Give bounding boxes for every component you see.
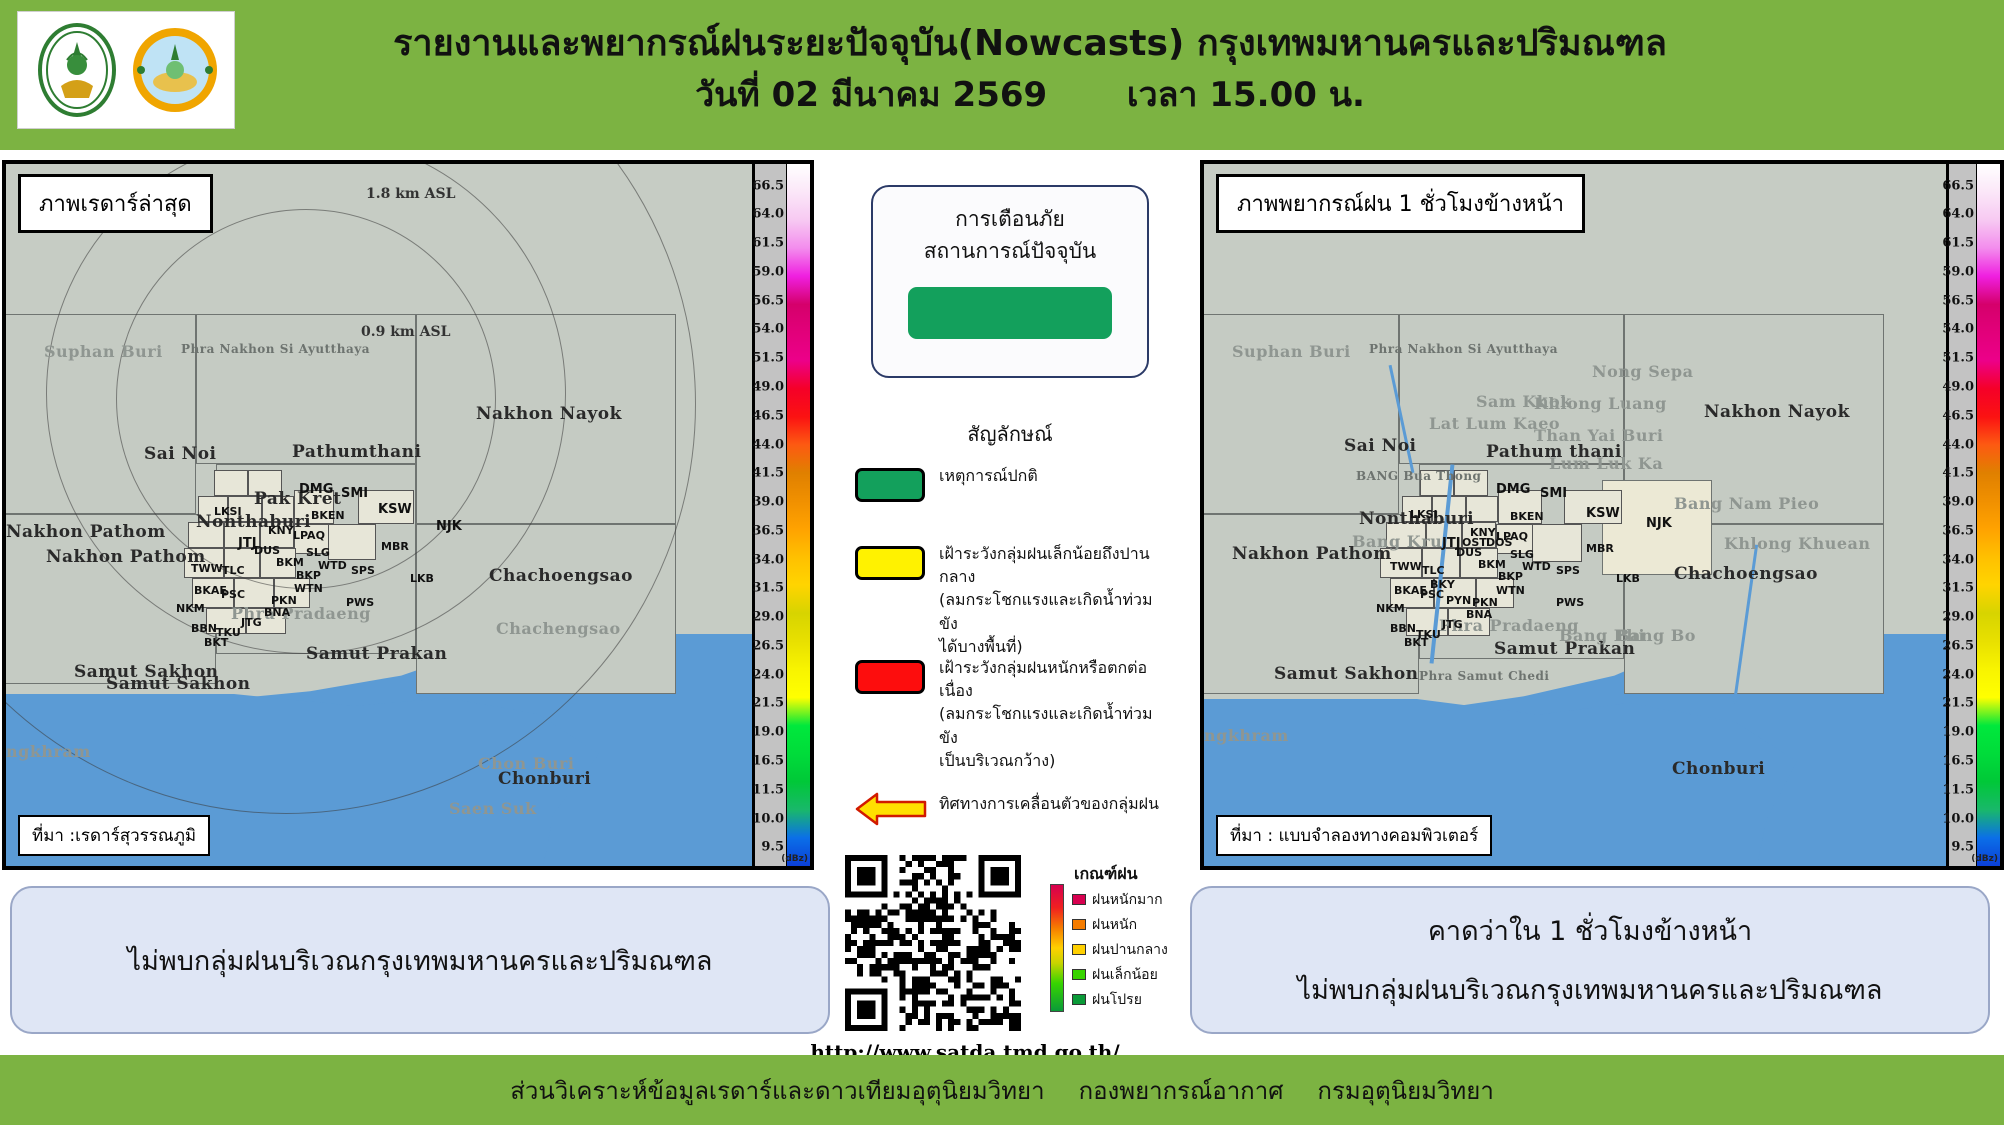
legend-label-watch-light: เฝ้าระวังกลุ่มฝนเล็กน้อยถึงปานกลาง(ลมกระ… [939, 542, 1169, 658]
district-code-label: LKSI [214, 505, 242, 518]
colorbar-tick: 21.5 [1942, 696, 1974, 711]
district-code-label: MBR [1586, 542, 1614, 555]
colorbar-tick: 39.0 [1942, 495, 1974, 510]
district-code-label: TLC [1422, 564, 1445, 577]
map-place-label: Khlong Luang [1534, 394, 1667, 413]
rain-criteria-legend: เกณฑ์ฝน ฝนหนักมากฝนหนักฝนปานกลางฝนเล็กน้… [1050, 862, 1200, 1012]
colorbar-tick: 66.5 [752, 178, 784, 193]
map-place-label: ngkhram [1204, 726, 1289, 745]
radar-colorbar: 66.564.061.559.056.554.051.549.046.544.0… [752, 164, 810, 866]
map-place-label: Phra Samut Chedi [1419, 669, 1549, 683]
district-code-label: NKM [176, 602, 205, 615]
map-place-label: Nakhon Pathom [1232, 544, 1392, 564]
district-code-label: NJK [1646, 516, 1672, 531]
district-code-label: WTD [318, 559, 347, 572]
district-code-label: PYN [1446, 594, 1471, 607]
district-code-label: SLG [306, 546, 330, 559]
colorbar-tick: 31.5 [1942, 581, 1974, 596]
rain-criteria-label: ฝนหนักมาก [1092, 889, 1163, 911]
radar-colorbar-ticks: 66.564.061.559.056.554.051.549.046.544.0… [755, 164, 786, 866]
colorbar-tick: 29.0 [1942, 610, 1974, 625]
district-code-label: PKN [1472, 596, 1498, 609]
map-place-label: Nakhon Pathom [46, 547, 206, 567]
colorbar-tick: 10.0 [1942, 811, 1974, 826]
district-code-label: KSW [1586, 506, 1620, 521]
colorbar-tick: 46.5 [752, 408, 784, 423]
qr-code[interactable] [845, 855, 1021, 1031]
district-code-label: LPAQ [293, 529, 325, 542]
district-code-label: TKU [216, 626, 241, 639]
map-place-label: Samut Sakhon [106, 674, 251, 694]
colorbar-tick: 26.5 [752, 638, 784, 653]
map-place-label: Phra Nakhon Si Ayutthaya [181, 342, 370, 356]
district-code-label: MBR [381, 540, 409, 553]
rain-intensity-gradient-bar [1050, 884, 1064, 1012]
district-code-label: TKU [1416, 628, 1441, 641]
rain-criteria-item: ฝนโปรย [1072, 987, 1200, 1012]
rain-criteria-swatch-icon [1072, 969, 1086, 980]
red-swatch-icon [855, 660, 925, 694]
title-line-2: วันที่ 02 มีนาคม 2569 เวลา 15.00 น. [250, 73, 1810, 119]
colorbar-tick: 51.5 [1942, 351, 1974, 366]
rain-criteria-swatch-icon [1072, 994, 1086, 1005]
district-code-label: DUS [254, 544, 280, 557]
map-place-label: Samut Sakhon [1274, 664, 1419, 684]
footer-department: กรมอุตุนิยมวิทยา [1317, 1071, 1493, 1110]
colorbar-tick: 26.5 [1942, 638, 1974, 653]
colorbar-tick: 66.5 [1942, 178, 1974, 193]
colorbar-tick: 51.5 [752, 351, 784, 366]
colorbar-tick: 16.5 [1942, 753, 1974, 768]
colorbar-tick: 64.0 [1942, 207, 1974, 222]
colorbar-tick: 11.5 [1942, 782, 1974, 797]
status-badge [908, 287, 1112, 339]
map-place-label: Phra Nakhon Si Ayutthaya [1369, 342, 1558, 356]
rain-criteria-item: ฝนหนักมาก [1072, 887, 1200, 912]
district-code-label: TLC [222, 564, 245, 577]
district-code-label: DMG [1496, 482, 1530, 497]
colorbar-tick: 19.0 [752, 725, 784, 740]
colorbar-tick: 61.5 [1942, 236, 1974, 251]
nowcast-page: รายงานและพยากรณ์ฝนระยะปัจจุบัน(Nowcasts)… [0, 0, 2004, 1125]
colorbar-tick: 9.5 [761, 840, 784, 855]
green-swatch-icon [855, 468, 925, 502]
forecast-summary-box: คาดว่าใน 1 ชั่วโมงข้างหน้า ไม่พบกลุ่มฝนบ… [1190, 886, 1990, 1034]
district-code-label: NJK [436, 519, 462, 534]
district-code-label: WTN [1496, 584, 1525, 597]
radar-panel[interactable]: 1.8 km ASL 0.9 km ASL Suphan BuriPhra Na… [2, 160, 814, 870]
colorbar-tick: 34.0 [752, 552, 784, 567]
district-code-label: LKSI [1410, 508, 1438, 521]
colorbar-tick: 41.5 [752, 466, 784, 481]
map-place-label: Chachengsao [496, 619, 621, 638]
map-place-label: Suphan Buri [1232, 342, 1351, 361]
map-place-label: Chonburi [498, 769, 591, 789]
radar-summary-box: ไม่พบกลุ่มฝนบริเวณกรุงเทพมหานครและปริมณฑ… [10, 886, 830, 1034]
district-code-label: BNA [1466, 608, 1492, 621]
district-code-label: WTD [1522, 560, 1551, 573]
district-code-label: JTG [241, 616, 262, 629]
forecast-colorbar-strip [1976, 164, 2000, 866]
district-code-label: SPS [1556, 564, 1580, 577]
map-place-label: Nakhon Nayok [476, 404, 622, 424]
rain-criteria-items: ฝนหนักมากฝนหนักฝนปานกลางฝนเล็กน้อยฝนโปรย [1050, 887, 1200, 1012]
rain-criteria-label: ฝนเล็กน้อย [1092, 964, 1158, 986]
district-code-label: WTN [294, 582, 323, 595]
district-code-label: LKB [410, 572, 434, 585]
map-place-label: ngkhram [6, 742, 91, 761]
colorbar-tick: 54.0 [1942, 322, 1974, 337]
colorbar-tick: 24.0 [752, 667, 784, 682]
map-place-label: Chachoengsao [1674, 564, 1818, 584]
rain-criteria-label: ฝนปานกลาง [1092, 939, 1168, 961]
district-code-label: KSW [378, 502, 412, 517]
radar-source-tag: ที่มา :เรดาร์สุวรรณภูมิ [18, 815, 210, 856]
legend-label-normal: เหตุการณ์ปกติ [939, 464, 1169, 487]
colorbar-tick: 36.5 [752, 523, 784, 538]
district-code-label: PSC [221, 588, 245, 601]
rain-criteria-title: เกณฑ์ฝน [1074, 862, 1200, 887]
district-code-label: TWW [1390, 560, 1422, 573]
map-place-label: Bang Nam Pieo [1674, 494, 1819, 513]
colorbar-tick: 36.5 [1942, 523, 1974, 538]
footer-division: ส่วนวิเคราะห์ข้อมูลเรดาร์และดาวเทียมอุตุ… [510, 1071, 1044, 1110]
colorbar-tick: 49.0 [752, 379, 784, 394]
forecast-colorbar-unit: (dBz) [1971, 854, 1998, 864]
colorbar-tick: 56.5 [752, 293, 784, 308]
arrow-left-icon [855, 790, 927, 828]
map-place-label: Bang Bo [1616, 626, 1696, 645]
district-code-label: BKEN [311, 509, 345, 522]
map-place-label: Nakhon Pathom [6, 522, 166, 542]
report-date: วันที่ 02 มีนาคม 2569 [695, 75, 1047, 115]
warning-card: การเตือนภัย สถานการณ์ปัจจุบัน [871, 185, 1149, 378]
forecast-map-canvas[interactable]: Suphan BuriPhra Nakhon Si AyutthayaNong … [1204, 164, 1946, 866]
colorbar-tick: 44.0 [1942, 437, 1974, 452]
page-title: รายงานและพยากรณ์ฝนระยะปัจจุบัน(Nowcasts)… [250, 20, 1810, 118]
rain-criteria-swatch-icon [1072, 894, 1086, 905]
rain-criteria-label: ฝนหนัก [1092, 914, 1137, 936]
colorbar-tick: 19.0 [1942, 725, 1974, 740]
legend-heading: สัญลักษณ์ [871, 418, 1149, 450]
map-place-label: BANG Bua Thong [1356, 469, 1481, 483]
ring-label-1: 1.8 km ASL [366, 186, 455, 202]
colorbar-tick: 21.5 [752, 696, 784, 711]
rain-criteria-swatch-icon [1072, 944, 1086, 955]
legend-label-watch-heavy: เฝ้าระวังกลุ่มฝนหนักหรือตกต่อเนื่อง(ลมกร… [939, 656, 1169, 772]
colorbar-tick: 31.5 [752, 581, 784, 596]
map-place-label: Chonburi [1672, 759, 1765, 779]
royal-irrigation-seal-icon [31, 20, 123, 120]
colorbar-tick: 34.0 [1942, 552, 1974, 567]
yellow-swatch-icon [855, 546, 925, 580]
colorbar-tick: 11.5 [752, 782, 784, 797]
map-place-label: Saen Suk [449, 799, 537, 818]
colorbar-tick: 49.0 [1942, 379, 1974, 394]
rain-criteria-swatch-icon [1072, 919, 1086, 930]
colorbar-tick: 10.0 [752, 811, 784, 826]
colorbar-tick: 59.0 [752, 264, 784, 279]
radar-colorbar-unit: (dBz) [781, 854, 808, 864]
colorbar-tick: 24.0 [1942, 667, 1974, 682]
rain-criteria-item: ฝนหนัก [1072, 912, 1200, 937]
forecast-colorbar-ticks: 66.564.061.559.056.554.051.549.046.544.0… [1949, 164, 1976, 866]
agency-logos [17, 11, 235, 129]
district-code-label: OST [1462, 536, 1487, 549]
page-header: รายงานและพยากรณ์ฝนระยะปัจจุบัน(Nowcasts)… [0, 0, 2004, 150]
rain-criteria-label: ฝนโปรย [1092, 989, 1142, 1011]
district-code-label: PKN [271, 594, 297, 607]
page-footer: ส่วนวิเคราะห์ข้อมูลเรดาร์และดาวเทียมอุตุ… [0, 1055, 2004, 1125]
district-code-label: SMI [341, 486, 368, 501]
district-code-label: BKP [296, 569, 321, 582]
colorbar-tick: 29.0 [752, 610, 784, 625]
district-code-label: BKP [1498, 570, 1523, 583]
district-code-label: BNA [264, 606, 290, 619]
colorbar-tick: 59.0 [1942, 264, 1974, 279]
map-place-label: Nakhon Nayok [1704, 402, 1850, 422]
district-code-label: SMI [1540, 486, 1567, 501]
colorbar-tick: 41.5 [1942, 466, 1974, 481]
rain-criteria-item: ฝนเล็กน้อย [1072, 962, 1200, 987]
colorbar-tick: 64.0 [752, 207, 784, 222]
district-code-label: BBN [191, 622, 217, 635]
forecast-panel-title: ภาพพยากรณ์ฝน 1 ชั่วโมงข้างหน้า [1216, 174, 1585, 233]
colorbar-tick: 56.5 [1942, 293, 1974, 308]
map-place-label: Suphan Buri [44, 342, 163, 361]
map-place-label: Khlong Khuean [1724, 534, 1871, 553]
map-place-label: Sai Noi [1344, 436, 1417, 456]
forecast-panel[interactable]: Suphan BuriPhra Nakhon Si AyutthayaNong … [1200, 160, 2004, 870]
district-code-label: TWW [191, 562, 223, 575]
district-code-label: PWS [1556, 596, 1584, 609]
footer-bureau: กองพยากรณ์อากาศ [1079, 1071, 1284, 1110]
forecast-summary-line-1: คาดว่าใน 1 ชั่วโมงข้างหน้า [1428, 909, 1752, 952]
colorbar-tick: 16.5 [752, 753, 784, 768]
colorbar-tick: 54.0 [752, 322, 784, 337]
radar-map-canvas[interactable]: 1.8 km ASL 0.9 km ASL Suphan BuriPhra Na… [6, 164, 752, 866]
legend-label-direction: ทิศทางการเคลื่อนตัวของกลุ่มฝน [939, 792, 1169, 815]
warning-title-1: การเตือนภัย [873, 204, 1147, 234]
report-time: เวลา 15.00 น. [1127, 75, 1365, 115]
forecast-summary-line-2: ไม่พบกลุ่มฝนบริเวณกรุงเทพมหานครและปริมณฑ… [1298, 968, 1883, 1011]
title-line-1: รายงานและพยากรณ์ฝนระยะปัจจุบัน(Nowcasts)… [250, 20, 1810, 69]
map-place-label: Nong Sepa [1592, 362, 1693, 381]
qr-code-image[interactable] [845, 855, 1021, 1031]
warning-title-2: สถานการณ์ปัจจุบัน [873, 236, 1147, 266]
district-code-label: SPS [351, 564, 375, 577]
ring-label-2: 0.9 km ASL [361, 324, 450, 340]
colorbar-tick: 61.5 [752, 236, 784, 251]
district-code-label: JTG [1442, 618, 1463, 631]
district-code-label: NKM [1376, 602, 1405, 615]
colorbar-tick: 44.0 [752, 437, 784, 452]
rain-criteria-item: ฝนปานกลาง [1072, 937, 1200, 962]
district-code-label: SLG [1510, 548, 1534, 561]
map-place-label: Pathumthani [292, 442, 421, 462]
district-code-label: BBN [1390, 622, 1416, 635]
district-code-label: BKY [1430, 578, 1455, 591]
district-code-label: DMG [299, 482, 333, 497]
colorbar-tick: 9.5 [1951, 840, 1974, 855]
radar-summary-text: ไม่พบกลุ่มฝนบริเวณกรุงเทพมหานครและปริมณฑ… [128, 939, 713, 982]
map-place-label: Lum Luk Ka [1549, 454, 1663, 473]
district-code-label: LKB [1616, 572, 1640, 585]
radar-colorbar-strip [786, 164, 810, 866]
district-code-label: BKM [276, 556, 304, 569]
forecast-source-tag: ที่มา : แบบจำลองทางคอมพิวเตอร์ [1216, 815, 1492, 856]
district-code-label: KNY [268, 524, 294, 537]
district-code-label: BKEN [1510, 510, 1544, 523]
forecast-colorbar: 66.564.061.559.056.554.051.549.046.544.0… [1946, 164, 2000, 866]
map-place-label: Samut Prakan [306, 644, 447, 664]
colorbar-tick: 46.5 [1942, 408, 1974, 423]
radar-panel-title: ภาพเรดาร์ล่าสุด [18, 174, 213, 233]
district-code-label: PWS [346, 596, 374, 609]
map-place-label: Chachoengsao [489, 566, 633, 586]
map-place-label: Sai Noi [144, 444, 217, 464]
district-code-label: DOS [1486, 536, 1512, 549]
colorbar-tick: 39.0 [752, 495, 784, 510]
tmd-seal-icon [129, 20, 221, 120]
